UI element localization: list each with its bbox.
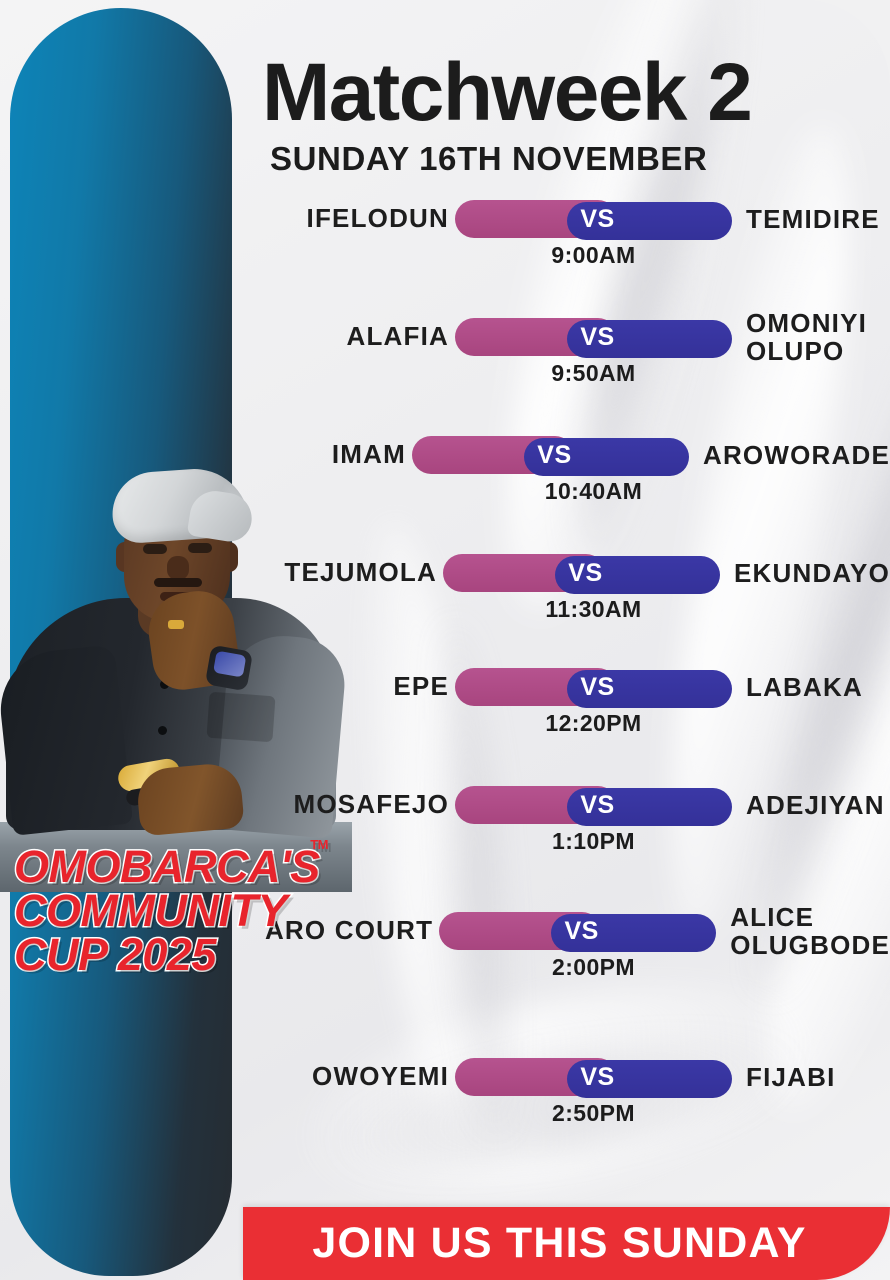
logo-line-1: OMOBARCA'S	[14, 845, 334, 889]
home-team-name: OWOYEMI	[0, 1063, 455, 1090]
versus-label: VS	[455, 668, 732, 706]
versus-label: VS	[455, 1058, 732, 1096]
trademark-mark: TM	[310, 839, 328, 852]
versus-label: VS	[443, 554, 720, 592]
logo-line-3: CUP 2025	[14, 933, 334, 977]
ring-icon	[168, 620, 184, 629]
away-team-name: ALICE OLUGBODE	[716, 903, 890, 959]
away-team-name: LABAKA	[732, 673, 890, 701]
kickoff-time: 10:40AM	[455, 478, 732, 505]
versus-pill: VS	[455, 668, 732, 706]
page-subtitle: SUNDAY 16TH NOVEMBER	[270, 140, 872, 178]
versus-label: VS	[455, 318, 732, 356]
kickoff-time: 1:10PM	[455, 828, 732, 855]
kickoff-time: 9:50AM	[455, 360, 732, 387]
page-title: Matchweek 2	[262, 52, 872, 134]
kickoff-time: 11:30AM	[455, 596, 732, 623]
home-team-name: EPE	[0, 673, 455, 700]
versus-pill: VS	[455, 200, 732, 238]
home-team-name: TEJUMOLA	[0, 559, 443, 586]
kickoff-time: 2:50PM	[455, 1100, 732, 1127]
fixture-row: IFELODUNVSTEMIDIRE9:00AM	[0, 198, 890, 256]
versus-label: VS	[455, 200, 732, 238]
kickoff-time: 2:00PM	[455, 954, 732, 981]
home-team-name: MOSAFEJO	[0, 791, 455, 818]
away-team-name: OMONIYI OLUPO	[732, 309, 852, 365]
versus-pill: VS	[439, 912, 716, 950]
away-team-name: TEMIDIRE	[732, 205, 890, 233]
versus-pill: VS	[412, 436, 689, 474]
away-team-name: FIJABI	[732, 1063, 890, 1091]
shirt-button	[158, 726, 167, 735]
fixture-row: EPEVSLABAKA12:20PM	[0, 666, 890, 724]
fixture-row: TEJUMOLAVSEKUNDAYO11:30AM	[0, 552, 890, 610]
call-to-action-banner[interactable]: JOIN US THIS SUNDAY	[243, 1207, 890, 1280]
banner-text: JOIN US THIS SUNDAY	[312, 1219, 820, 1268]
kickoff-time: 12:20PM	[455, 710, 732, 737]
fixture-row: ALAFIAVSOMONIYI OLUPO9:50AM	[0, 316, 890, 374]
fixture-row: OWOYEMIVSFIJABI2:50PM	[0, 1056, 890, 1114]
logo-line-2: COMMUNITY	[14, 889, 334, 933]
versus-label: VS	[439, 912, 716, 950]
versus-pill: VS	[443, 554, 720, 592]
fixture-row: MOSAFEJOVSADEJIYAN1:10PM	[0, 784, 890, 842]
away-team-name: EKUNDAYO	[720, 559, 890, 587]
versus-label: VS	[412, 436, 689, 474]
home-team-name: IFELODUN	[0, 205, 455, 232]
kickoff-time: 9:00AM	[455, 242, 732, 269]
versus-pill: VS	[455, 1058, 732, 1096]
fixture-poster: OMOBARCA'S COMMUNITY CUP 2025 TM Matchwe…	[0, 0, 890, 1280]
versus-pill: VS	[455, 318, 732, 356]
away-team-name: AROWORADE	[689, 441, 890, 469]
versus-label: VS	[455, 786, 732, 824]
versus-pill: VS	[455, 786, 732, 824]
home-team-name: IMAM	[0, 441, 412, 468]
event-logo: OMOBARCA'S COMMUNITY CUP 2025 TM	[14, 845, 334, 977]
poster-header: Matchweek 2 SUNDAY 16TH NOVEMBER	[262, 52, 872, 178]
fixture-row: IMAMVSAROWORADE10:40AM	[0, 434, 890, 492]
home-team-name: ALAFIA	[0, 323, 455, 350]
away-team-name: ADEJIYAN	[732, 791, 890, 819]
